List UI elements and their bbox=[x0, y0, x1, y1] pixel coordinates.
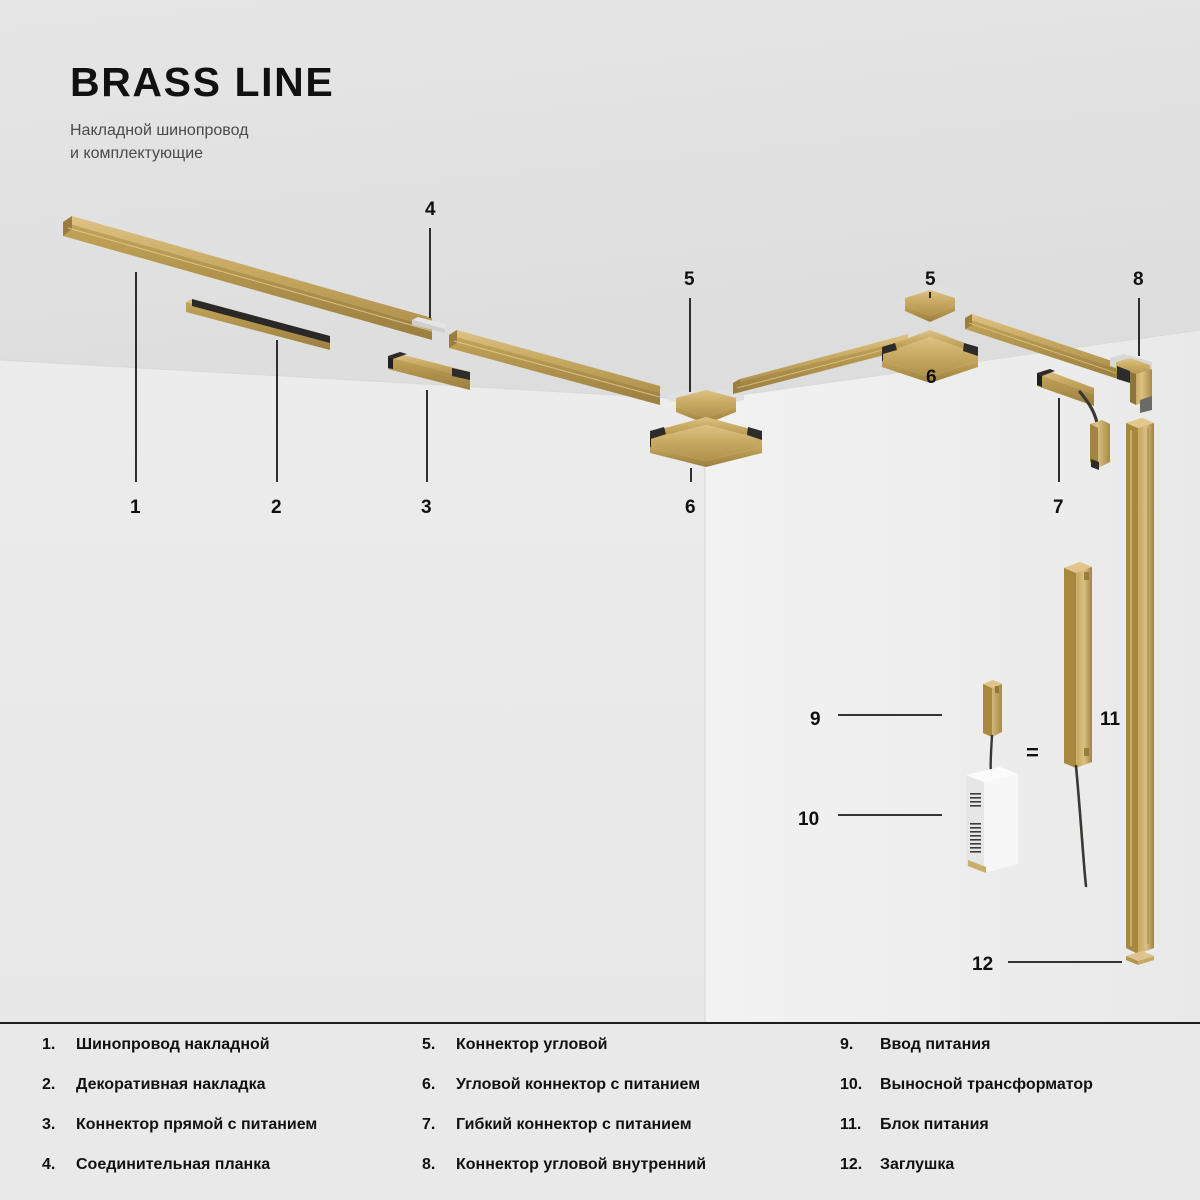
legend-item: 10.Выносной трансформатор bbox=[840, 1064, 1200, 1104]
callout-number-5a: 5 bbox=[684, 270, 695, 289]
legend-item-label: Блок питания bbox=[880, 1116, 989, 1134]
legend-item-label: Коннектор прямой с питанием bbox=[76, 1116, 317, 1134]
legend-item-label: Выносной трансформатор bbox=[880, 1076, 1093, 1094]
legend-item-number: 4. bbox=[42, 1156, 76, 1174]
legend-item-number: 6. bbox=[422, 1076, 456, 1094]
legend-item: 12.Заглушка bbox=[840, 1144, 1200, 1184]
legend-item: 1.Шинопровод накладной bbox=[42, 1024, 410, 1064]
legend-item: 4.Соединительная планка bbox=[42, 1144, 410, 1184]
legend-item: 8.Коннектор угловой внутренний bbox=[422, 1144, 830, 1184]
legend-column-3: 9.Ввод питания10.Выносной трансформатор1… bbox=[830, 1024, 1200, 1200]
callout-number-2: 2 bbox=[271, 498, 282, 517]
legend-item-label: Заглушка bbox=[880, 1156, 954, 1174]
legend-column-2: 5.Коннектор угловой6.Угловой коннектор с… bbox=[410, 1024, 830, 1200]
legend-item: 5.Коннектор угловой bbox=[422, 1024, 830, 1064]
subtitle-line-2: и комплектующие bbox=[70, 142, 334, 165]
legend-item-number: 8. bbox=[422, 1156, 456, 1174]
legend-item: 2.Декоративная накладка bbox=[42, 1064, 410, 1104]
callout-number-6a: 6 bbox=[685, 498, 696, 517]
title-block: BRASS LINE Накладной шинопровод и компле… bbox=[70, 62, 334, 165]
legend-item-label: Соединительная планка bbox=[76, 1156, 270, 1174]
legend-item-number: 5. bbox=[422, 1036, 456, 1054]
transformer-item-10 bbox=[966, 767, 1018, 873]
callout-number-8: 8 bbox=[1133, 270, 1144, 289]
legend-item: 3.Коннектор прямой с питанием bbox=[42, 1104, 410, 1144]
legend-item-number: 2. bbox=[42, 1076, 76, 1094]
legend-item-label: Гибкий коннектор с питанием bbox=[456, 1116, 692, 1134]
legend-item-label: Декоративная накладка bbox=[76, 1076, 265, 1094]
legend-item-number: 9. bbox=[840, 1036, 880, 1054]
callout-number-7: 7 bbox=[1053, 498, 1064, 517]
subtitle-line-1: Накладной шинопровод bbox=[70, 119, 334, 142]
legend-item-number: 3. bbox=[42, 1116, 76, 1134]
wall-left bbox=[0, 360, 705, 1022]
legend-item-number: 1. bbox=[42, 1036, 76, 1054]
callout-number-5b: 5 bbox=[925, 270, 936, 289]
page-title: BRASS LINE bbox=[70, 62, 334, 103]
callout-number-4: 4 bbox=[425, 200, 436, 219]
legend-item-label: Угловой коннектор с питанием bbox=[456, 1076, 700, 1094]
callout-number-1: 1 bbox=[130, 498, 141, 517]
callout-number-6b: 6 bbox=[926, 368, 937, 387]
legend-item: 11.Блок питания bbox=[840, 1104, 1200, 1144]
callout-number-12: 12 bbox=[972, 955, 993, 974]
legend-item: 7.Гибкий коннектор с питанием bbox=[422, 1104, 830, 1144]
legend-item: 6.Угловой коннектор с питанием bbox=[422, 1064, 830, 1104]
callout-number-11: 11 bbox=[1100, 710, 1120, 729]
legend-item-label: Коннектор угловой внутренний bbox=[456, 1156, 706, 1174]
legend-item-label: Коннектор угловой bbox=[456, 1036, 608, 1054]
legend-item-label: Шинопровод накладной bbox=[76, 1036, 270, 1054]
legend-item-number: 10. bbox=[840, 1076, 880, 1094]
legend-item-number: 12. bbox=[840, 1156, 880, 1174]
legend-item-number: 7. bbox=[422, 1116, 456, 1134]
wall-right bbox=[705, 330, 1200, 1022]
legend-item-number: 11. bbox=[840, 1116, 880, 1134]
legend-item-label: Ввод питания bbox=[880, 1036, 990, 1054]
legend-bar: 1.Шинопровод накладной2.Декоративная нак… bbox=[0, 1022, 1200, 1200]
vertical-track bbox=[1126, 418, 1154, 954]
callout-number-10: 10 bbox=[798, 810, 819, 829]
page-subtitle: Накладной шинопровод и комплектующие bbox=[70, 119, 334, 165]
callout-number-3: 3 bbox=[421, 498, 432, 517]
legend-item: 9.Ввод питания bbox=[840, 1024, 1200, 1064]
page-root: BRASS LINE Накладной шинопровод и компле… bbox=[0, 0, 1200, 1200]
callout-number-9: 9 bbox=[810, 710, 821, 729]
equals-symbol: = bbox=[1026, 742, 1039, 764]
legend-column-1: 1.Шинопровод накладной2.Декоративная нак… bbox=[0, 1024, 410, 1200]
